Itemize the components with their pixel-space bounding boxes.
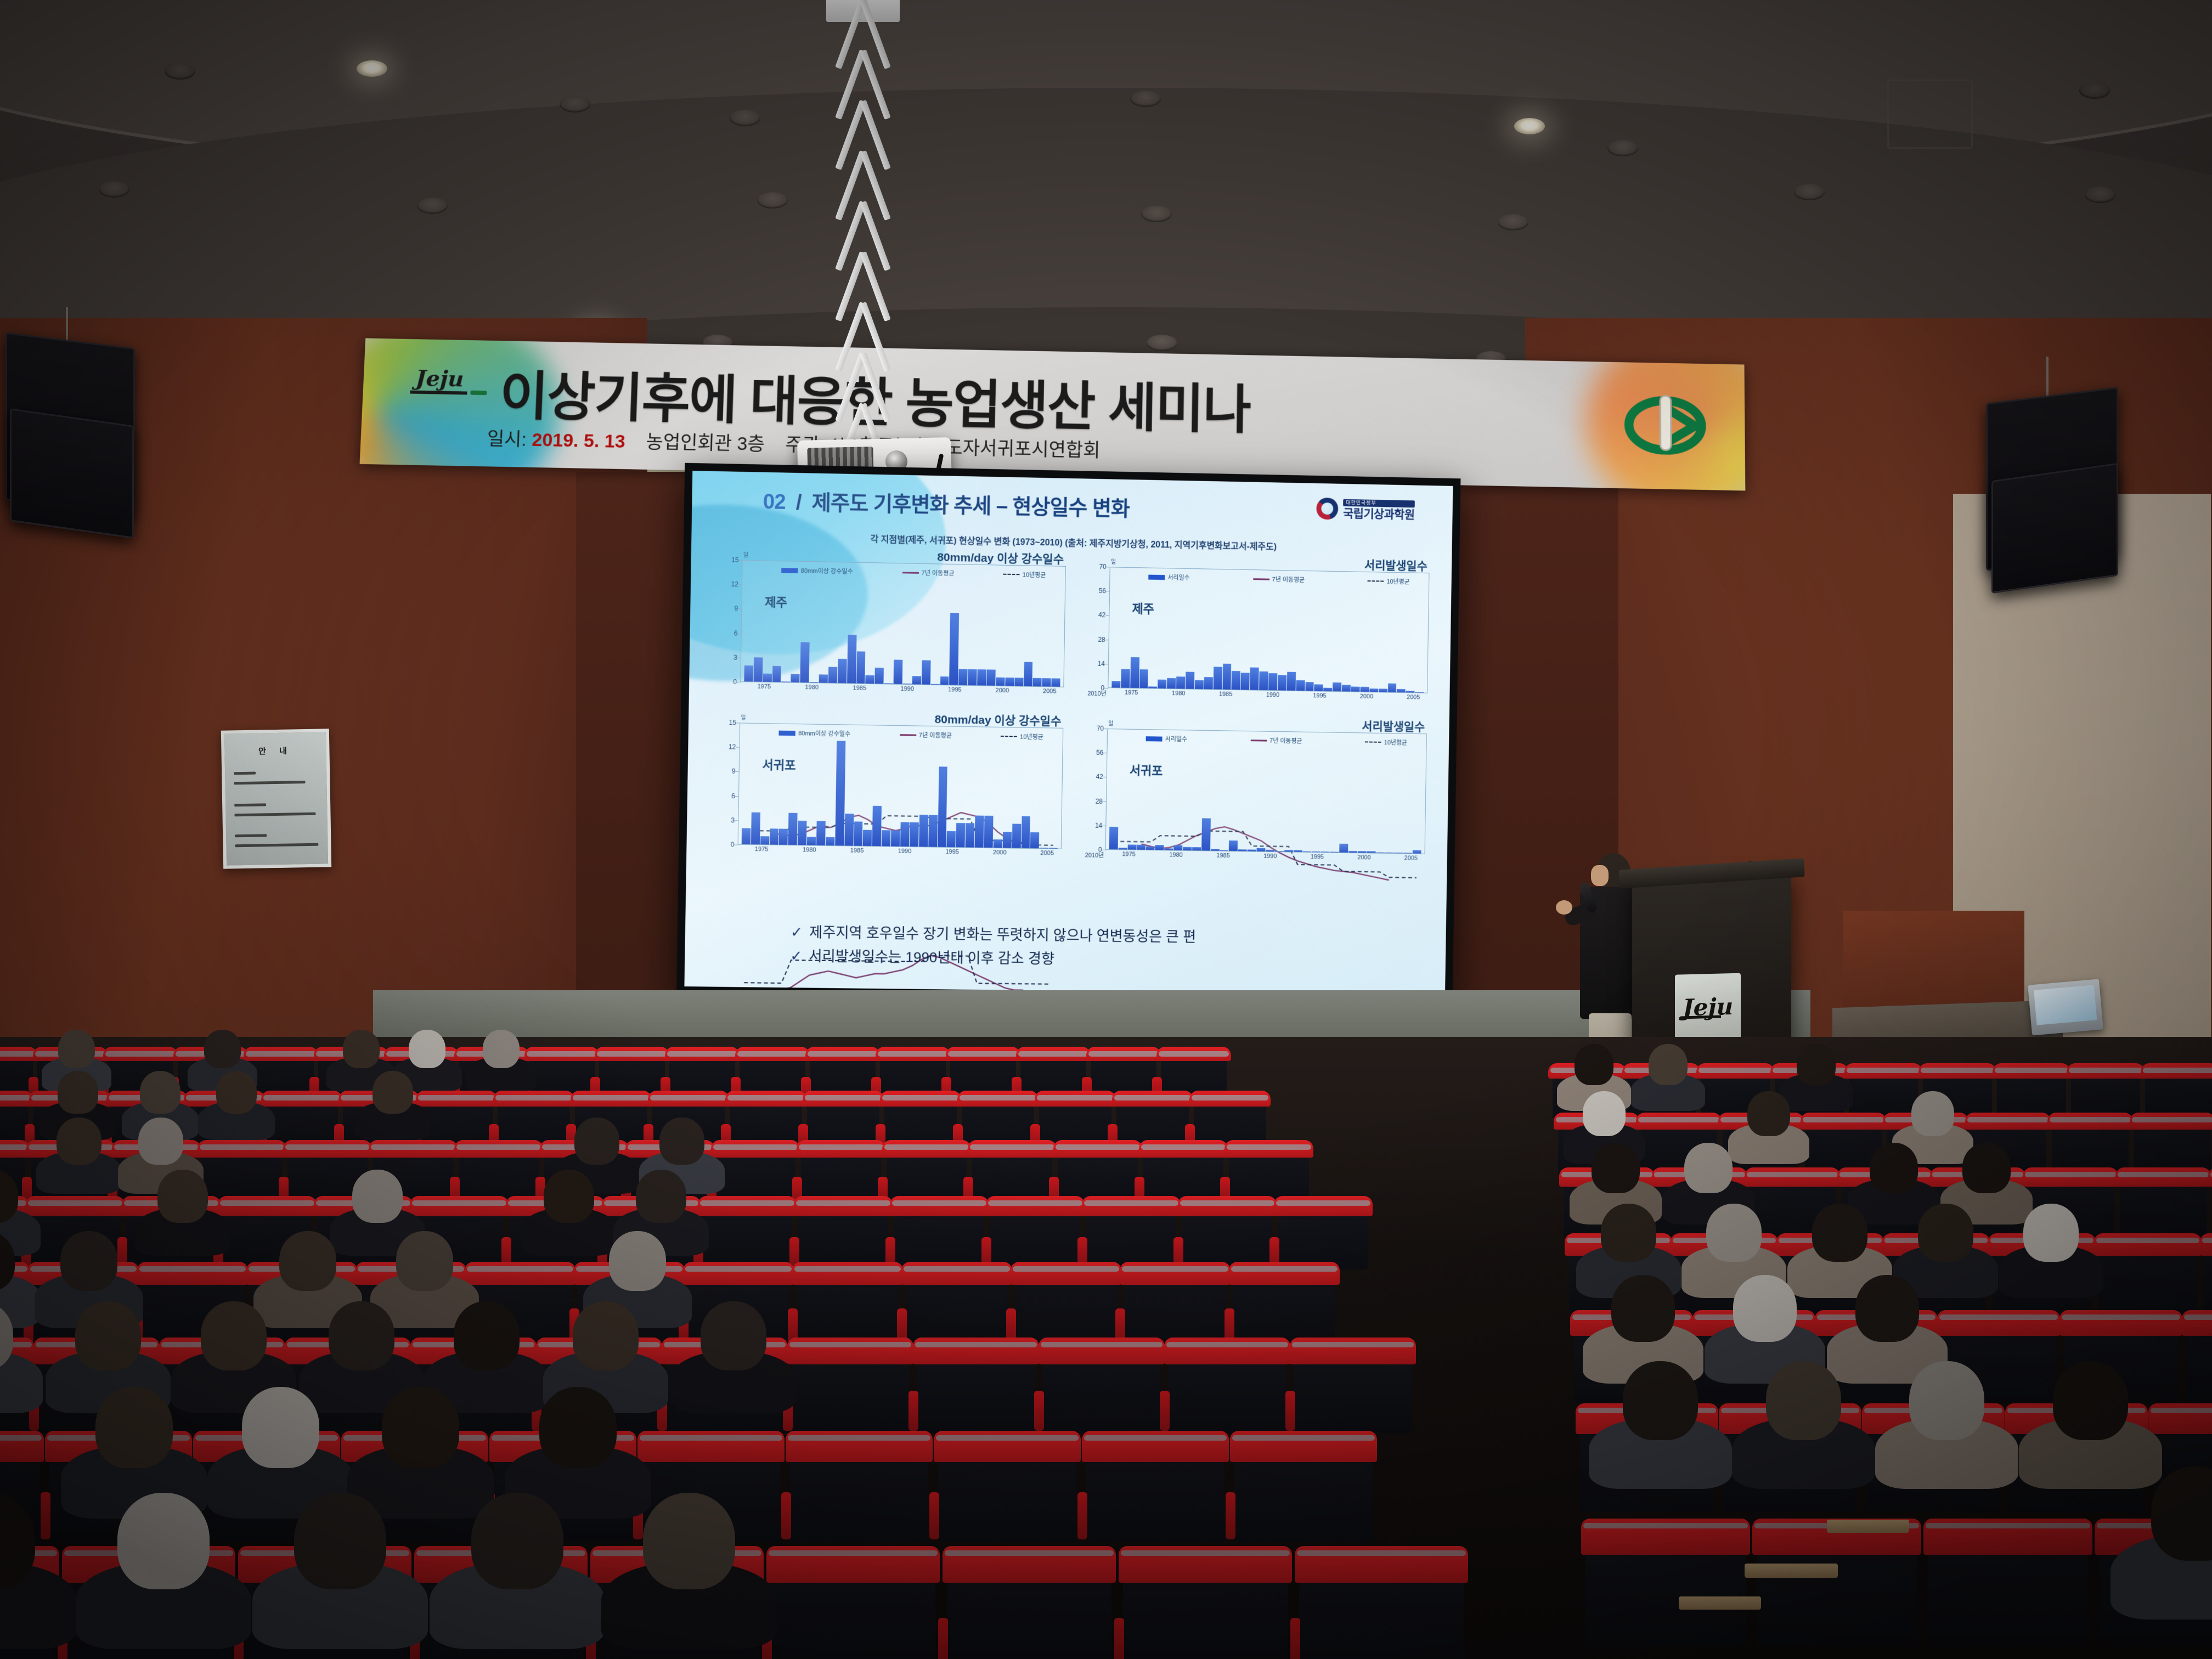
auditorium-seat[interactable] [1182,1203,1272,1269]
seat-piping [573,1095,650,1101]
chart-y-tick-label: 0 [1079,684,1104,692]
scissor-arm [839,50,887,103]
downlight [1147,335,1177,351]
seat-headrest-trim [890,1196,989,1216]
audience-member-head [1592,1143,1640,1193]
seat-piping [915,1342,1037,1347]
auditorium-seat[interactable] [1294,1344,1412,1433]
seat-piping [285,1144,370,1150]
audience-member-head [95,1387,173,1468]
chart-x-tick-label: 1985 [1219,691,1233,697]
chart-y-tick-label: 56 [1078,748,1103,757]
chart-seogwipo-heavy-rain: 80mm/day 이상 강수일수일0369121580mm이상 강수일수7년 이… [708,709,1065,871]
seat-piping [1803,1117,1884,1122]
audience-member-head [636,1170,686,1223]
scissor-arm [839,303,887,356]
seat-piping [1056,1144,1140,1150]
audience-member-head [1583,1091,1626,1136]
seat-piping [1084,1435,1227,1441]
downlight [1141,206,1172,222]
seat-piping [737,1051,808,1057]
downlight [1498,214,1528,230]
chart-x-tick-label: 1990 [898,848,912,855]
chart-y-unit: 일 [1108,719,1113,727]
av-laptop [2028,979,2103,1036]
audience-member-head [1601,1204,1656,1262]
seat-piping [0,1144,27,1150]
seat-piping [1141,1144,1226,1150]
seat-piping [0,1435,42,1441]
auditorium-seat[interactable] [1299,1553,1464,1659]
seat-armrest [1077,1492,1087,1539]
downlight [2079,82,2110,99]
podium-logo-plate: Jeju [1675,973,1741,1041]
audience-member-head [1855,1275,1919,1342]
chart-y-unit: 일 [741,713,746,721]
seat-writing-tablet[interactable] [1827,1520,1909,1533]
audience-member-head [157,1170,208,1223]
slide-title-text: 제주도 기후변화 추세 – 현상일수 변화 [811,492,1130,521]
farmers-association-logo-icon [1624,388,1707,456]
slide-bullets: ✓제주지역 호우일수 장기 변화는 뚜렷하지 않으나 연변동성은 큰 편 ✓서리… [790,921,1196,973]
seat-piping [2184,1314,2212,1320]
chart-y-tick-label: 9 [710,767,736,775]
auditorium-seat[interactable] [1278,1203,1368,1269]
seat-piping [2202,1238,2212,1243]
scissor-arm [839,0,887,53]
seat-armrest [1034,1391,1044,1431]
seat-piping [799,1144,883,1150]
auditorium-seat[interactable] [1169,1344,1286,1433]
wall-notice-sign: 안 내 [221,729,331,868]
auditorium-seat[interactable] [1123,1553,1288,1659]
slide-section-number: 02 [763,490,786,514]
audience-member-head [573,1301,639,1370]
downlight [165,63,195,80]
audience-member-head [1623,1361,1698,1440]
seat-piping [1180,1200,1274,1206]
auditorium-seat[interactable] [1086,1203,1176,1269]
chart-grid: 80mm/day 이상 강수일수일0369121580mm이상 강수일수7년 이… [708,546,1431,876]
audience-member-head [382,1387,459,1468]
seat-armrest [1114,1618,1124,1659]
seat-piping [1638,1117,1719,1122]
audience-member-head [609,1231,666,1291]
chart-y-tick-label: 15 [710,719,736,727]
downlight [1514,118,1545,134]
seat-piping [2096,1238,2199,1243]
chart-y-unit: 일 [1111,557,1116,565]
seat-piping [1121,1550,1290,1556]
ceiling-vent [1887,80,1973,149]
chart-x-tick-label: 1980 [805,684,819,691]
seat-piping [988,1200,1082,1206]
auditorium-seat[interactable] [990,1203,1080,1269]
seat-piping [700,1200,794,1206]
seat-piping [1227,1144,1311,1150]
chart-plot-area: 서리일수7년 이동평균10년평균서귀포 [1105,729,1427,854]
chart-y-tick-label: 70 [1079,724,1104,732]
slide-org-badge: 대한민국정부 [1343,499,1415,507]
seat-piping [808,1051,878,1057]
chart-x-tick-label: 1990 [1263,853,1277,860]
chart-jeju-heavy-rain: 80mm/day 이상 강수일수일0369121580mm이상 강수일수7년 이… [711,546,1068,709]
seat-piping [1297,1550,1466,1556]
chart-x-tick-label: 1985 [1216,853,1230,859]
seat-piping [667,1051,737,1057]
seat-piping [0,1095,31,1101]
slide-title-separator: / [791,491,807,515]
seat-headrest-trim [218,1196,317,1216]
downlight [99,181,129,198]
chart-x-tick-label: 2010년 [1451,695,1453,703]
downlight [757,192,788,208]
audience-member-head [454,1301,520,1370]
presentation-slide: 02 / 제주도 기후변화 추세 – 현상일수 변화 대한민국정부 국립기상과학… [684,471,1453,995]
chart-y-tick-label: 14 [1077,821,1102,830]
slide-org-logo: 대한민국정부 국립기상과학원 [1316,498,1414,521]
seat-piping [1192,1095,1268,1101]
chart-y-tick [737,682,741,682]
scissor-arm [839,101,887,154]
seat-armrest [929,1492,939,1539]
audience-member-head [242,1387,319,1468]
seat-piping [936,1435,1079,1441]
seat-piping [1699,1068,1772,1073]
banner-date-label: 일시: [487,428,527,450]
seat-piping [467,1266,573,1272]
seat-piping [1122,1266,1228,1272]
projector-scissor-lift [839,0,887,472]
scissor-link [839,50,887,103]
seat-piping [650,1095,727,1101]
seat-piping [948,1051,1018,1057]
seat-piping [1041,1342,1163,1347]
audience-member-head [60,1231,117,1291]
auditorium-seat[interactable] [938,1437,1076,1542]
seat-armrest [1226,1492,1235,1539]
auditorium-seat[interactable] [1086,1437,1224,1542]
audience-seating-area [0,1037,2212,1659]
downlight [1794,184,1825,200]
chart-y-tick-label: 0 [709,840,735,849]
seat-armrest [1160,1391,1170,1431]
scissor-link [839,252,887,305]
seat-piping [1166,1342,1288,1347]
seat-piping [1995,1068,2068,1073]
seat-headrest-trim [137,1262,248,1285]
chart-title: 서리발생일수 [1362,718,1425,735]
audience-member-head [1870,1143,1918,1193]
banner-date: 2019. 5. 13 [532,430,626,452]
chart-y-tick-label: 6 [712,629,738,637]
seat-headrest-trim [1178,1196,1277,1216]
auditorium-photo: 안 내 Jeju 이상기후에 대응한 농업생산 세미나 일시: 2019. 5.… [0,0,2212,1659]
seat-headrest-trim [26,1196,125,1216]
chart-x-tick-label: 1990 [1266,692,1279,698]
auditorium-seat[interactable] [1234,1437,1373,1542]
audience-member-head [574,1118,619,1165]
audience-member-head [1766,1361,1841,1440]
seat-piping [263,1095,340,1101]
chart-x-tick-label: 2000 [996,687,1009,694]
seat-headrest-trim [1082,1196,1181,1216]
scissor-link [839,101,887,154]
scissor-arm [839,353,887,406]
seat-piping [2069,1068,2142,1073]
chart-y-tick-label: 12 [713,580,738,588]
seat-piping [139,1266,246,1272]
seat-headrest-trim [698,1196,797,1216]
seat-headrest-trim [1229,1262,1340,1285]
audience-member-head [1733,1275,1797,1342]
chart-y-tick [1102,850,1106,850]
chart-y-tick-label: 12 [710,743,736,751]
seat-armrest [1285,1391,1295,1431]
chart-jeju-frost: 서리발생일수일01428425670서리일수7년 이동평균10년평균제주1975… [1079,553,1432,715]
seat-piping [1939,1314,2058,1320]
chart-x-tick-label: 2005 [1404,855,1418,861]
seat-headrest-trim [410,1196,509,1216]
seat-piping [495,1095,572,1101]
chart-y-tick-label: 70 [1081,562,1107,571]
bullet-item-2: ✓서리발생일수는 1990년대 이후 감소 경향 [790,944,1196,973]
wall-sign-line [235,843,318,848]
auditorium-seat[interactable] [792,1344,909,1433]
seat-piping [1921,1068,1994,1073]
downlight [2085,187,2115,203]
auditorium-seat[interactable] [2098,1240,2197,1314]
auditorium-seat[interactable] [1928,1525,2088,1646]
seat-piping [2151,1408,2212,1413]
audience-member-head [483,1030,520,1068]
audience-member-head [1575,1044,1613,1085]
chart-y-tick-label: 9 [713,605,738,613]
seat-piping [892,1200,986,1206]
auditorium-seat[interactable] [1015,1268,1117,1345]
seat-piping [882,1095,959,1101]
speaker-stack-right-bottom [1991,463,2118,594]
audience-member-head [1909,1361,1984,1440]
audience-member-head [1962,1143,2011,1193]
audience-member-head [352,1170,403,1223]
taeguk-icon [1316,498,1338,520]
chart-x-tick-label: 1985 [850,847,864,854]
scissor-link [839,0,887,53]
seat-piping [1847,1068,1920,1073]
seat-headrest-trim [986,1196,1085,1216]
seat-armrest [938,1618,948,1659]
seat-piping [1232,1435,1375,1441]
seat-piping [0,1051,35,1057]
chart-y-tick [1104,688,1108,689]
seat-piping [246,1051,316,1057]
auditorium-seat[interactable] [947,1553,1111,1659]
wall-sign-line [234,812,315,817]
chart-title: 서리발생일수 [1364,556,1427,574]
podium-logo-text: Jeju [1683,992,1733,1020]
presenter-face [1591,865,1609,886]
chart-x-tick-label: 2005 [1040,850,1054,856]
auditorium-seat[interactable] [797,1268,899,1345]
audience-member-head [2023,1204,2079,1262]
seat-armrest [1290,1618,1300,1659]
audience-member-head [1706,1204,1762,1262]
audience-member-head [396,1231,453,1291]
audience-member-head [58,1030,95,1068]
audience-member-head [1611,1275,1675,1342]
chart-y-tick-label: 28 [1077,797,1103,805]
audience-member-head [279,1231,336,1291]
seat-piping [28,1200,122,1206]
audience-member-head [471,1493,563,1589]
seat-piping [371,1144,455,1150]
scissor-arm [839,151,887,204]
audience-member-head [201,1301,267,1370]
seat-piping [805,1095,882,1101]
seat-piping [970,1144,1054,1150]
chart-x-tick-label: 1975 [1125,690,1138,696]
chart-y-tick-label: 0 [1077,845,1102,854]
seat-headrest-trim [901,1262,1012,1285]
audience-member-head [701,1301,766,1370]
auditorium-seat[interactable] [2120,1174,2207,1239]
chart-x-tick-label: 1995 [948,686,962,693]
chart-x-tick-label: 1985 [853,685,866,691]
auditorium-seat[interactable] [1757,1525,1917,1646]
chart-x-tick-label: 1990 [900,686,914,692]
audience-member-head [1747,1091,1790,1136]
auditorium-seat[interactable] [1585,1525,1746,1646]
auditorium-seat[interactable] [2204,1240,2212,1314]
auditorium-seat[interactable] [790,1437,928,1542]
seat-piping [1967,1117,2049,1122]
seat-piping [1926,1523,2090,1528]
seat-piping [527,1051,597,1057]
chart-y-tick-label: 42 [1078,773,1103,781]
banner-brand-text: Jeju [415,365,465,392]
audience-member-head [138,1118,183,1165]
seat-piping [727,1095,804,1101]
audience-member-head [409,1030,445,1068]
seat-piping [418,1095,495,1101]
chart-y-tick-label: 3 [709,816,735,824]
auditorium-seat[interactable] [1124,1268,1226,1345]
chart-plot-area: 서리일수7년 이동평균10년평균제주 [1108,567,1429,693]
audience-member-head [117,1493,210,1589]
chart-x-tick-label: 1980 [1172,690,1186,697]
seat-piping [1747,1172,1838,1177]
seat-piping [220,1200,314,1206]
slide-org-name: 국립기상과학원 [1343,507,1415,520]
downlight [730,110,760,126]
auditorium-seat[interactable] [2186,1317,2212,1403]
seat-piping [1583,1523,1748,1528]
audience-member-head [58,1071,98,1114]
bullet-text-2: 서리발생일수는 1990년대 이후 감소 경향 [809,947,1054,967]
seat-piping [2118,1172,2209,1177]
seat-armrest [781,1492,791,1539]
audience-member-head [1918,1204,1973,1262]
seat-piping [904,1266,1010,1272]
scissor-arm [839,202,887,255]
chart-seogwipo-frost: 서리발생일수일01428425670서리일수7년 이동평균10년평균서귀포197… [1076,715,1429,876]
chart-y-tick [735,845,738,845]
chart-x-tick-label: 1975 [755,846,769,853]
auditorium-seat[interactable] [894,1203,984,1269]
audience-member-head [294,1493,386,1589]
wall-sign-title: 안 내 [224,744,326,757]
chart-y-tick-label: 15 [713,556,739,564]
seat-piping [1037,1095,1114,1101]
seat-piping [878,1051,948,1057]
chart-y-tick-label: 42 [1080,611,1105,619]
audience-member-head [539,1387,617,1468]
auditorium-seat[interactable] [771,1553,935,1659]
seat-piping [2143,1068,2212,1073]
wall-sign-line [234,772,256,775]
seat-headrest-trim [1011,1262,1121,1285]
auditorium-seat[interactable] [917,1344,1035,1433]
seat-piping [2062,1314,2180,1320]
chart-x-tick-label: 1980 [1169,851,1183,858]
audience-member-head [373,1071,413,1114]
audience-member-head [659,1118,704,1165]
seat-piping [794,1266,901,1272]
seat-piping [1231,1266,1338,1272]
audience-member-head [329,1301,394,1370]
downlight [357,60,387,77]
seat-writing-tablet[interactable] [1745,1564,1838,1578]
seat-piping [1013,1266,1119,1272]
chart-x-tick-label: 2000 [1357,854,1370,861]
check-icon: ✓ [791,924,803,940]
seat-piping [1088,1051,1159,1057]
audience-member-head [140,1071,180,1114]
audience-member-head [544,1170,594,1223]
chart-y-tick-label: 28 [1080,635,1105,644]
chart-x-tick-label: 1995 [1311,854,1324,860]
chart-x-tick-label: 2005 [1043,688,1057,695]
audience-member-head [1649,1044,1688,1085]
slide-org-logo-text: 대한민국정부 국립기상과학원 [1343,499,1415,520]
seat-headrest-trim [792,1262,903,1285]
seat-piping [1292,1342,1414,1347]
chart-y-tick-label: 0 [712,678,737,686]
seat-headrest-trim [2200,1233,2212,1256]
auditorium-seat[interactable] [1233,1268,1335,1345]
auditorium-seat[interactable] [906,1268,1008,1345]
auditorium-seat[interactable] [1043,1344,1160,1433]
seat-headrest-trim [1120,1262,1231,1285]
auditorium-seat[interactable] [702,1203,792,1269]
seat-armrest [909,1391,918,1431]
audience-member-head [643,1493,735,1589]
chart-x-tick-label: 1995 [945,849,959,855]
seat-writing-tablet[interactable] [1679,1596,1761,1610]
chart-y-tick-label: 14 [1080,659,1105,668]
auditorium-seat[interactable] [798,1203,888,1269]
chart-x-tick-label: 2005 [1407,694,1420,701]
scissor-arm [839,252,887,305]
seat-piping [788,1435,930,1441]
seat-piping [945,1550,1114,1556]
downlight [560,96,590,112]
seat-piping [2050,1117,2131,1122]
seat-piping [640,1435,782,1441]
seat-piping [685,1266,792,1272]
seat-piping [412,1200,506,1206]
